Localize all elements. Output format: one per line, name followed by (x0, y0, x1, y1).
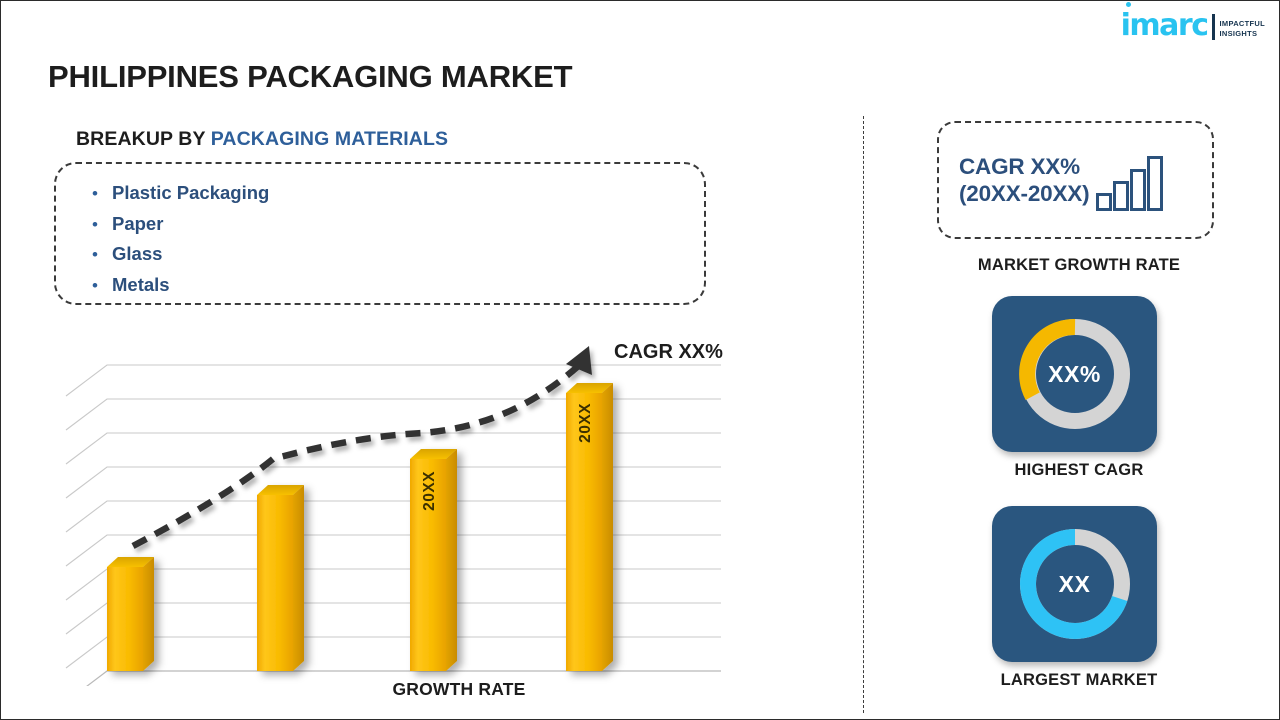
logo-tagline: IMPACTFUL INSIGHTS (1220, 19, 1265, 41)
bullet-icon: • (78, 277, 112, 294)
section-subtitle: BREAKUP BY PACKAGING MATERIALS (76, 128, 448, 151)
cagr-period: (20XX-20XX) (959, 180, 1089, 207)
chart-svg (61, 331, 751, 686)
highest-cagr-value: XX% (1048, 361, 1101, 388)
trendline-arrow (133, 346, 592, 546)
logo-dot-icon (1126, 2, 1131, 7)
highest-cagr-caption: HIGHEST CAGR (909, 461, 1249, 480)
list-item: • Metals (78, 274, 704, 305)
logo-tagline-line1: IMPACTFUL (1220, 19, 1265, 29)
growth-rate-chart: 20XX 20XX CAGR XX% GROWTH RATE (61, 331, 751, 686)
chart-gridlines (66, 365, 721, 668)
list-item: • Plastic Packaging (78, 182, 704, 213)
list-item: • Paper (78, 213, 704, 244)
packaging-materials-list: • Plastic Packaging • Paper • Glass • Me… (54, 162, 706, 305)
bar-label-3: 20XX (421, 471, 439, 511)
page-title: PHILIPPINES PACKAGING MARKET (48, 59, 572, 95)
list-item-label: Glass (112, 243, 162, 265)
largest-market-tile: XX (992, 506, 1157, 662)
highest-cagr-tile: XX% (992, 296, 1157, 452)
cagr-card-text: CAGR XX% (20XX-20XX) (959, 153, 1089, 208)
list-item-label: Metals (112, 274, 170, 296)
market-growth-rate-caption: MARKET GROWTH RATE (909, 256, 1249, 275)
list-item-label: Plastic Packaging (112, 182, 269, 204)
largest-market-value: XX (1059, 571, 1091, 598)
logo-wordmark: imarc (1121, 11, 1208, 41)
list-item: • Glass (78, 243, 704, 274)
bar-1 (107, 557, 154, 671)
panel-divider (863, 116, 864, 713)
bar-chart-icon (1095, 154, 1163, 212)
infographic-page: imarc IMPACTFUL INSIGHTS PHILIPPINES PAC… (1, 1, 1279, 719)
subtitle-prefix: BREAKUP BY (76, 128, 211, 150)
bar-label-4: 20XX (577, 403, 595, 443)
chart-cagr-annotation: CAGR XX% (614, 341, 723, 364)
cagr-value: CAGR XX% (959, 153, 1089, 180)
largest-market-caption: LARGEST MARKET (909, 671, 1249, 690)
market-growth-rate-card: CAGR XX% (20XX-20XX) (937, 121, 1214, 239)
bullet-icon: • (78, 216, 112, 233)
logo-tagline-line2: INSIGHTS (1220, 29, 1265, 39)
imarc-logo: imarc IMPACTFUL INSIGHTS (1121, 11, 1265, 41)
logo-divider (1212, 14, 1215, 40)
list-item-label: Paper (112, 213, 163, 235)
chart-x-axis-label: GROWTH RATE (349, 679, 569, 700)
subtitle-accent: PACKAGING MATERIALS (211, 128, 448, 150)
bullet-icon: • (78, 246, 112, 263)
bar-2 (257, 485, 304, 671)
bullet-icon: • (78, 185, 112, 202)
